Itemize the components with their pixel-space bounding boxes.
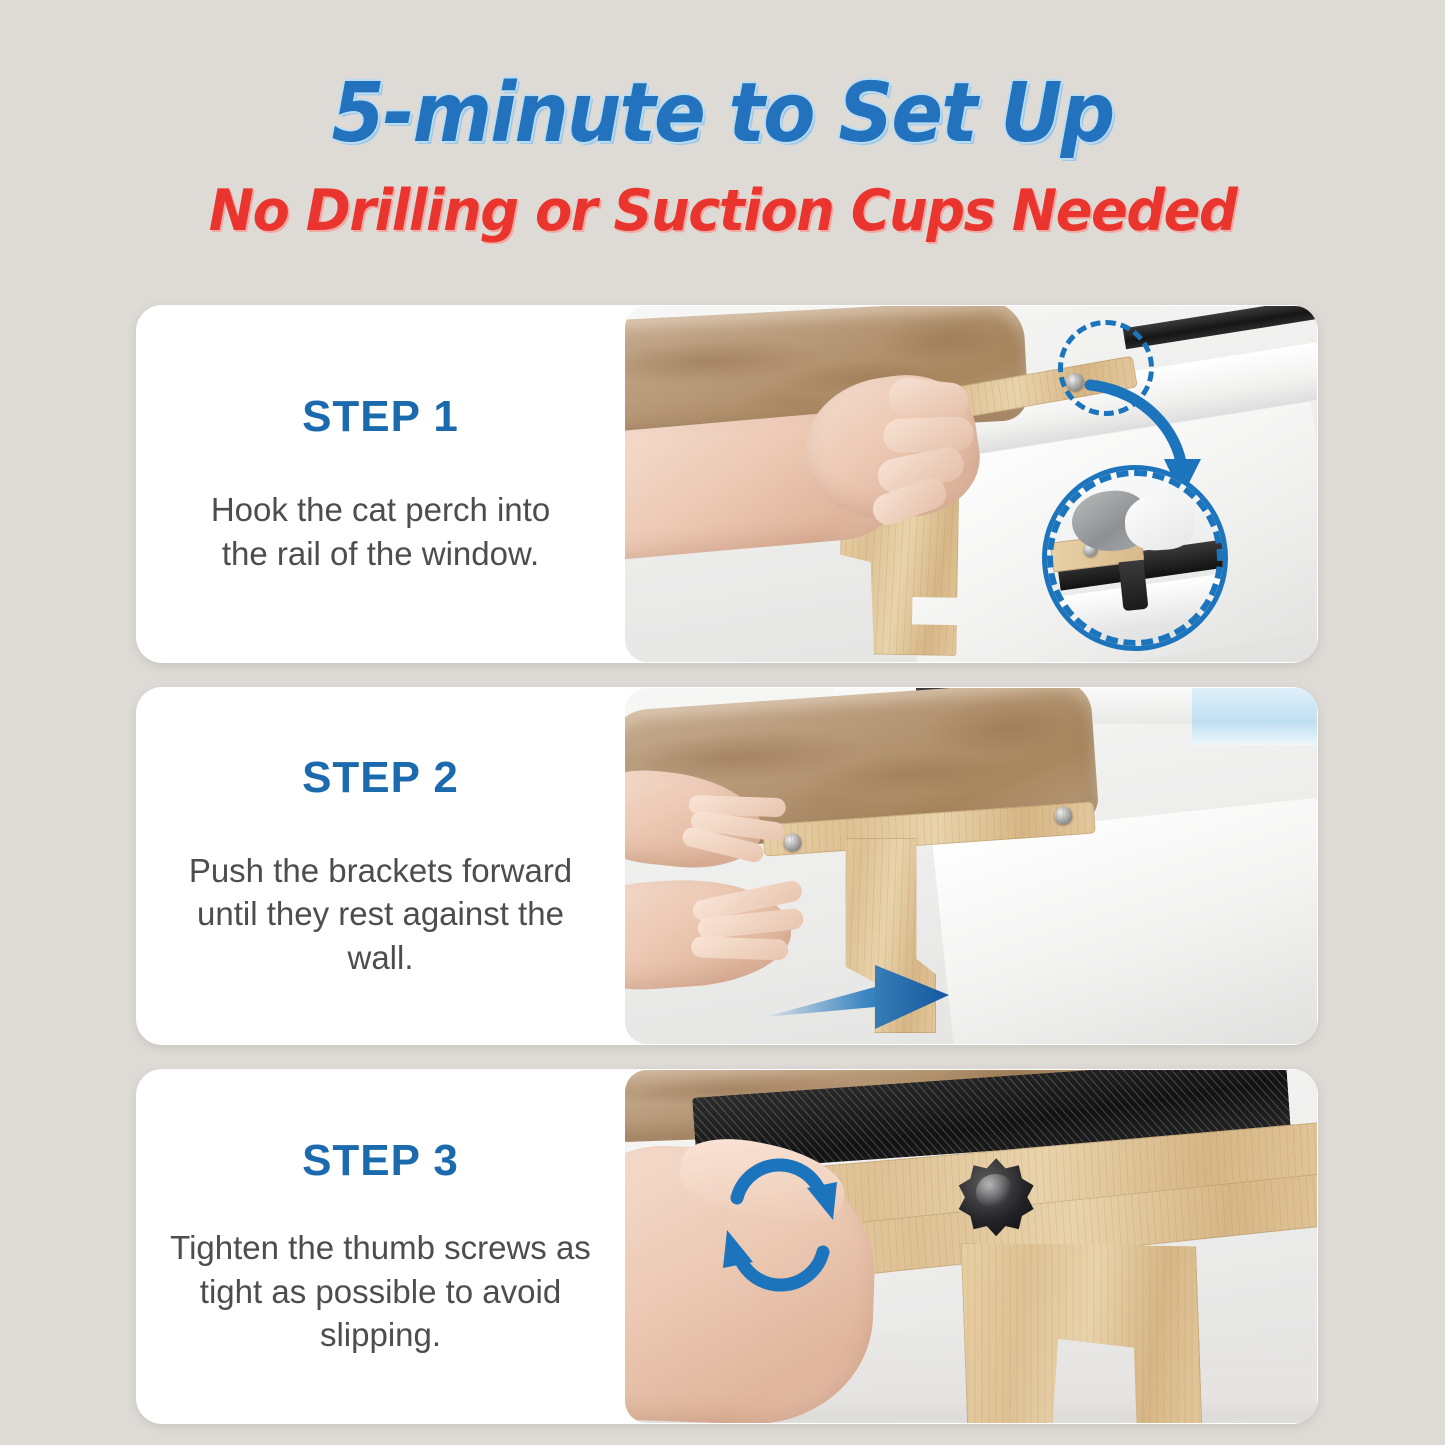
page-title: 5-minute to Set Up — [51, 72, 1395, 156]
push-forward-arrow-icon — [763, 959, 953, 1044]
finger — [690, 936, 788, 961]
step-2-description: Push the brackets forward until they res… — [162, 849, 599, 980]
steps-list: STEP 1 Hook the cat perch into the rail … — [136, 305, 1318, 1424]
step-card-3: STEP 3 Tighten the thumb screws as tight… — [136, 1069, 1318, 1424]
page-subtitle: No Drilling or Suction Cups Needed — [36, 182, 1409, 242]
step-1-description: Hook the cat perch into the rail of the … — [211, 488, 550, 575]
step-3-text-block: STEP 3 Tighten the thumb screws as tight… — [136, 1069, 625, 1424]
step-3-label: STEP 3 — [302, 1136, 459, 1186]
screw-icon — [783, 832, 802, 851]
step-3-description: Tighten the thumb screws as tight as pos… — [170, 1226, 591, 1357]
step-2-photo — [625, 688, 1317, 1044]
finger — [882, 416, 973, 453]
rotation-arrow-icon — [715, 1144, 845, 1294]
step-1-label: STEP 1 — [302, 392, 459, 442]
step-1-photo — [625, 306, 1317, 662]
step-3-photo — [625, 1070, 1317, 1423]
inset-metal-hook — [1119, 560, 1149, 612]
thumb-screw-knob-right — [957, 1158, 1035, 1236]
step-card-2: STEP 2 Push the brackets forward until t… — [136, 687, 1318, 1045]
step-2-text-block: STEP 2 Push the brackets forward until t… — [136, 687, 625, 1045]
step-2-label: STEP 2 — [302, 753, 459, 803]
screw-icon — [1054, 806, 1073, 825]
step-card-1: STEP 1 Hook the cat perch into the rail … — [136, 305, 1318, 663]
header: 5-minute to Set Up No Drilling or Suctio… — [0, 0, 1445, 241]
step-1-text-block: STEP 1 Hook the cat perch into the rail … — [136, 305, 625, 663]
window-glass — [1192, 688, 1317, 745]
detail-zoom-inset — [1047, 470, 1223, 646]
